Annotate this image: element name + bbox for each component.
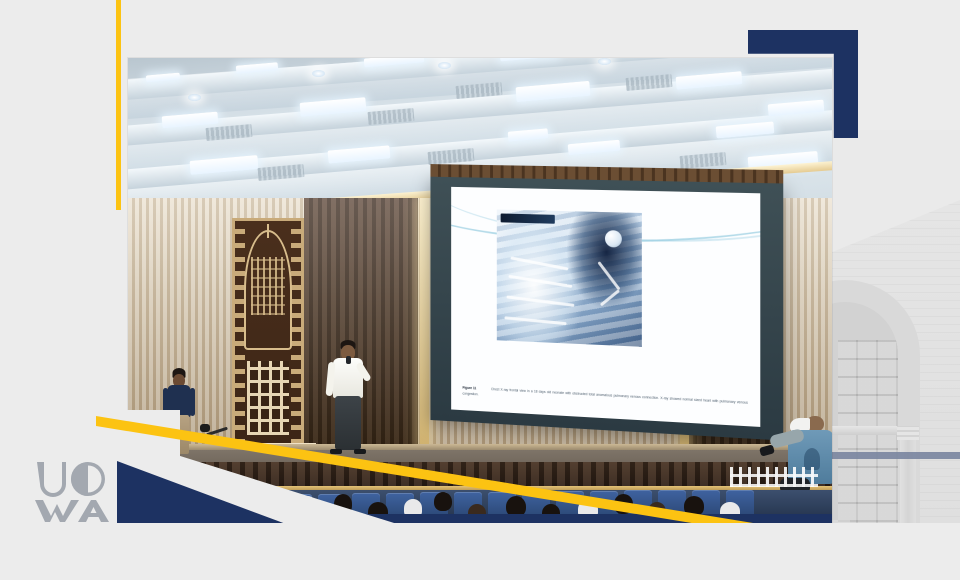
audience-head xyxy=(434,492,452,511)
audience-head xyxy=(684,496,704,516)
yellow-vertical-accent xyxy=(116,0,121,210)
attendee-arm xyxy=(190,388,195,416)
panel-kufic-calligraphy xyxy=(247,361,289,435)
xray-vessel-line xyxy=(600,289,620,306)
slide-caption-text: Chest X-ray frontal view in a 18 days ol… xyxy=(463,387,748,405)
uowa-logo xyxy=(33,458,111,524)
ceiling-downlight xyxy=(312,70,325,77)
audience-head xyxy=(614,494,633,514)
panel-thuluth-calligraphy xyxy=(251,257,285,315)
chest-xray-image xyxy=(497,209,642,346)
podium-microphone-icon xyxy=(200,424,210,432)
lecture-hall-photo: Figure 11Chest X-ray frontal view in a 1… xyxy=(128,58,832,523)
handheld-microphone-icon xyxy=(346,356,351,364)
ceiling-downlight xyxy=(598,58,611,65)
xray-rib-line xyxy=(510,256,568,270)
xray-rib-line xyxy=(508,275,572,288)
xray-marker-bar xyxy=(501,213,555,223)
logo-letter-a xyxy=(78,500,109,522)
xray-bright-nodule xyxy=(605,230,622,248)
presenter-trousers xyxy=(335,396,361,450)
kufic-watermark-text: وارث الانبياء xyxy=(730,467,818,487)
presenter-shoe xyxy=(330,449,342,454)
ceiling-downlight xyxy=(188,94,201,101)
xray-rib-line xyxy=(506,295,574,307)
logo-letter-u xyxy=(37,462,66,497)
promotional-graphic-canvas: Figure 11Chest X-ray frontal view in a 1… xyxy=(0,0,960,580)
projection-screen: Figure 11Chest X-ray frontal view in a 1… xyxy=(430,177,783,441)
page-bottom-background xyxy=(0,523,960,580)
slide-caption: Figure 11Chest X-ray frontal view in a 1… xyxy=(463,385,748,412)
presenter-with-microphone xyxy=(326,340,370,452)
presenter-shoe xyxy=(354,449,366,454)
watermark-pillar-cap-right xyxy=(897,426,919,440)
ceiling-downlight xyxy=(438,62,451,69)
xray-vessel-line xyxy=(597,261,620,290)
presentation-slide: Figure 11Chest X-ray frontal view in a 1… xyxy=(451,187,760,427)
xray-rib-line xyxy=(504,316,566,325)
logo-letter-w xyxy=(35,500,79,522)
panel-frame-right xyxy=(291,227,301,444)
islamic-calligraphy-panel xyxy=(232,218,304,453)
